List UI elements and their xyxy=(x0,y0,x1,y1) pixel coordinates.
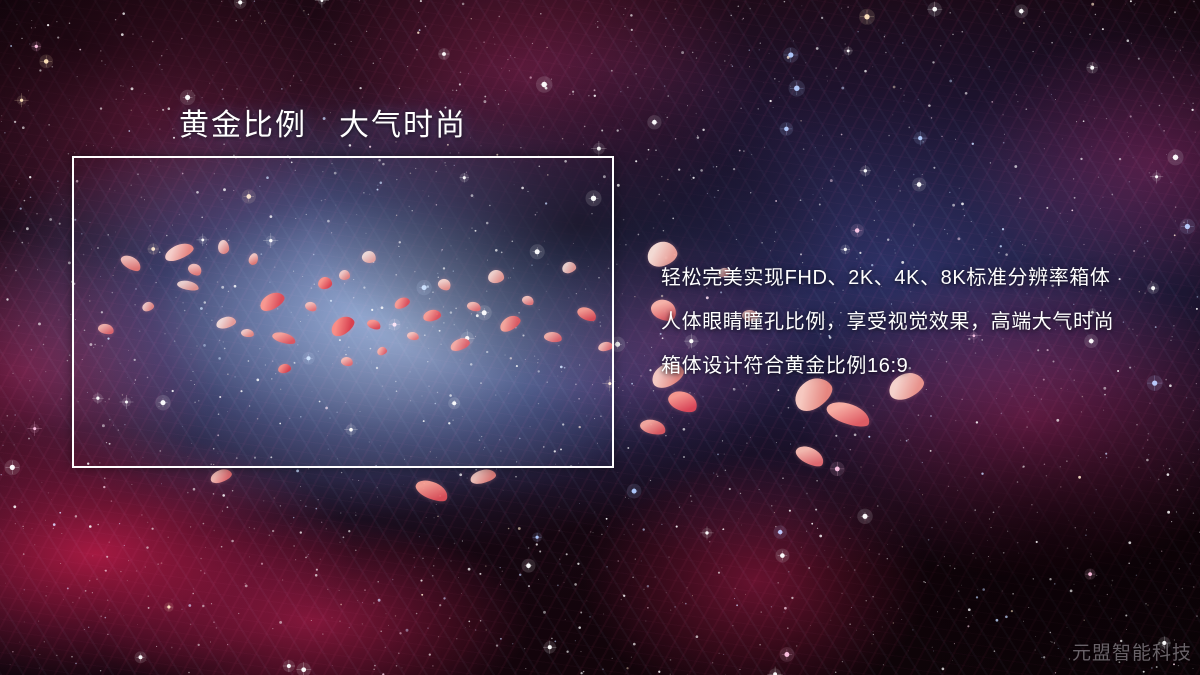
petal xyxy=(317,276,333,290)
petal xyxy=(97,322,115,336)
petal xyxy=(217,239,229,254)
petal xyxy=(361,250,377,264)
petal xyxy=(215,315,237,331)
panel-nebula-crimson xyxy=(72,156,614,468)
petal xyxy=(118,252,143,274)
petal xyxy=(575,304,598,324)
petal xyxy=(340,356,354,368)
petal xyxy=(271,330,297,346)
panel-starfield-icon xyxy=(72,156,614,468)
petal xyxy=(561,260,577,274)
watermark-label: 元盟智能科技 xyxy=(1072,638,1192,665)
petal xyxy=(597,341,613,352)
petal xyxy=(241,328,255,338)
petal xyxy=(209,467,234,486)
petal xyxy=(413,476,451,505)
petal xyxy=(162,240,195,264)
petal xyxy=(339,270,350,280)
petal xyxy=(304,300,319,313)
panel-core-glow xyxy=(72,156,614,468)
petal xyxy=(436,277,453,293)
framed-preview-panel[interactable] xyxy=(72,156,614,468)
petal xyxy=(793,442,827,470)
petal xyxy=(328,312,358,339)
petal xyxy=(176,279,199,292)
panel-nebula-filament xyxy=(72,156,614,468)
body-line-2: 人体眼睛瞳孔比例，享受视觉效果，高端大气时尚 xyxy=(661,300,1181,344)
petal xyxy=(406,331,419,341)
petal xyxy=(824,397,873,431)
petal xyxy=(393,295,412,311)
petal xyxy=(247,252,259,266)
petal xyxy=(422,308,442,323)
petal xyxy=(366,318,382,332)
panel-nebula-dust xyxy=(72,156,614,468)
petal xyxy=(257,289,287,314)
body-line-1: 轻松完美实现FHD、2K、4K、8K标准分辨率箱体 xyxy=(661,256,1181,300)
petal xyxy=(497,312,523,334)
petal xyxy=(521,294,535,307)
petal xyxy=(277,363,291,374)
body-text-block: 轻松完美实现FHD、2K、4K、8K标准分辨率箱体 人体眼睛瞳孔比例，享受视觉效… xyxy=(661,256,1181,388)
petal xyxy=(186,261,204,278)
panel-nebula-base xyxy=(72,156,614,468)
petal xyxy=(639,417,668,437)
petal xyxy=(543,331,562,343)
petal xyxy=(141,300,155,312)
body-line-3: 箱体设计符合黄金比例16:9 xyxy=(661,344,1181,388)
page-title: 黄金比例 大气时尚 xyxy=(179,100,467,144)
petal xyxy=(469,467,497,486)
petal xyxy=(666,387,701,416)
petal xyxy=(449,336,472,353)
petal xyxy=(487,269,504,284)
panel-petal-layer xyxy=(72,156,614,468)
petal xyxy=(376,346,388,357)
petal xyxy=(466,300,482,313)
slide-canvas: 黄金比例 大气时尚 轻松完美实现FHD、2K、4K、8K标准分辨率箱体 人体眼睛… xyxy=(0,0,1200,675)
